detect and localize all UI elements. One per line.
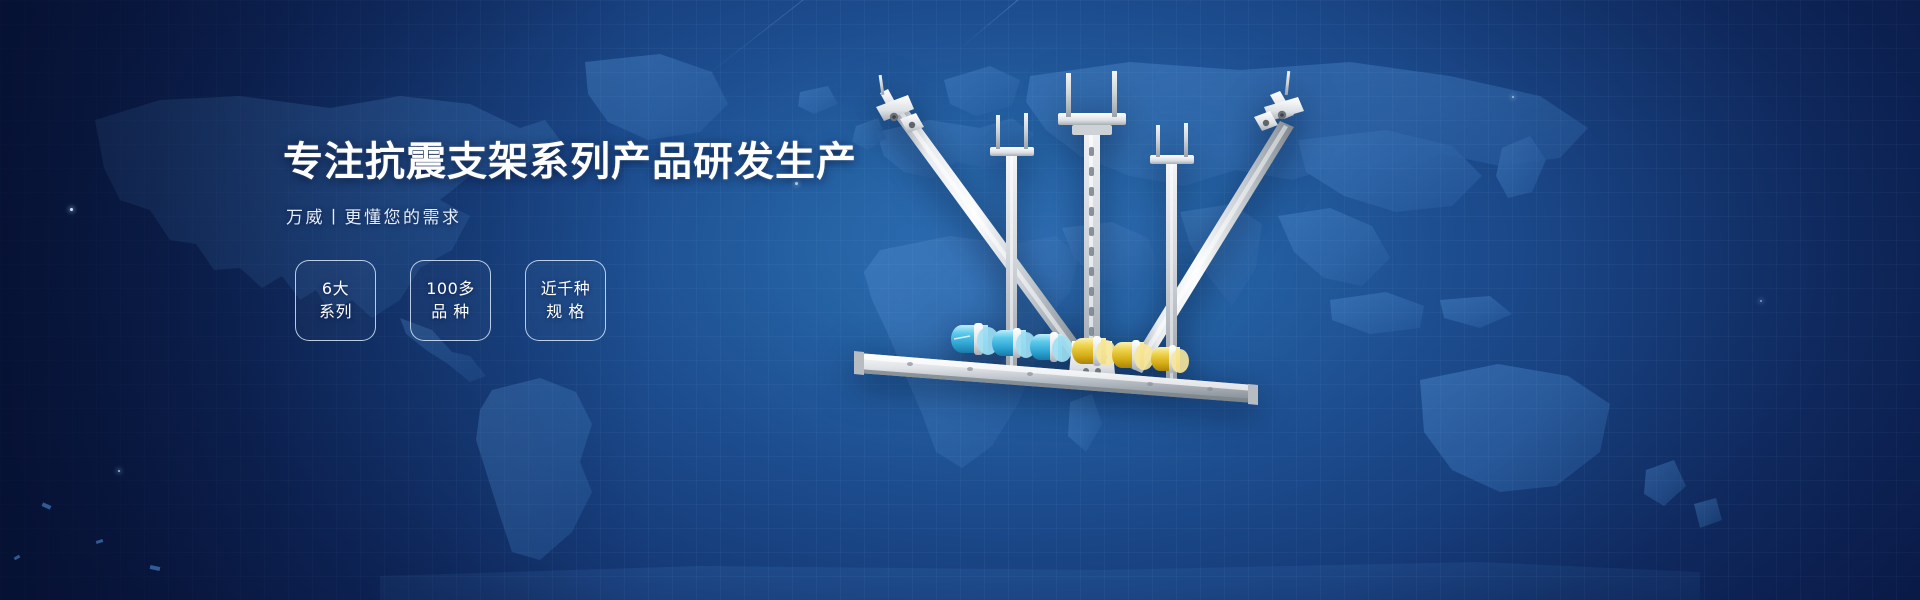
sparkle	[1512, 96, 1514, 98]
page-title: 专注抗震支架系列产品研发生产	[283, 140, 843, 185]
banner-copy: 专注抗震支架系列产品研发生产 万威丨更懂您的需求	[283, 140, 843, 229]
pipe-clamp-cyan	[951, 323, 999, 355]
stat-badge-line2: 品 种	[431, 301, 470, 324]
stat-badge-varieties: 100多 品 种	[410, 260, 491, 341]
pipe-clamp-yellow	[1151, 345, 1189, 373]
stat-badge-line1: 近千种	[541, 278, 591, 301]
pipe-clamp-yellow	[1072, 336, 1116, 366]
product-image	[850, 55, 1330, 405]
stat-badge-line1: 100多	[426, 278, 475, 301]
light-streak	[1180, 0, 1296, 11]
stat-badge-line2: 系列	[319, 301, 352, 324]
stat-badge-specs: 近千种 规 格	[525, 260, 606, 341]
light-streak	[960, 0, 1137, 49]
page-subtitle: 万威丨更懂您的需求	[286, 207, 843, 229]
stat-badge-group: 6大 系列 100多 品 种 近千种 规 格	[295, 260, 606, 341]
sparkle	[1760, 300, 1762, 302]
sparkle	[70, 208, 73, 211]
hero-banner: 专注抗震支架系列产品研发生产 万威丨更懂您的需求 6大 系列 100多 品 种 …	[0, 0, 1920, 600]
stat-badge-series: 6大 系列	[295, 260, 376, 341]
diagonal-brace-left	[876, 75, 1088, 361]
stat-badge-line2: 规 格	[546, 301, 585, 324]
diagonal-brace-right	[1128, 71, 1304, 373]
pipe-clamp-cyan	[992, 328, 1036, 358]
sparkle	[118, 470, 120, 472]
stat-badge-line1: 6大	[322, 278, 349, 301]
